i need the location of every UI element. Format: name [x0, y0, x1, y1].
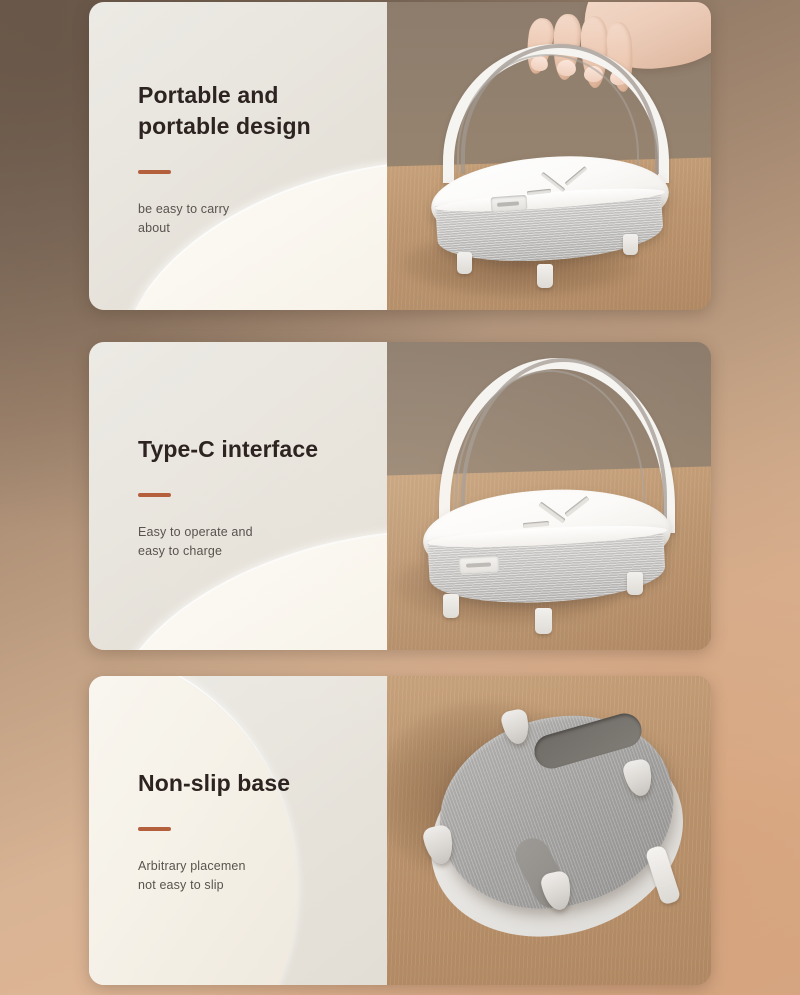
- feature-title: Portable and portable design: [138, 80, 373, 142]
- feature-subtitle: Easy to operate and easy to charge: [138, 523, 373, 561]
- port-opening: [497, 201, 519, 207]
- card-text-panel: Non-slip base Arbitrary placemen not eas…: [89, 676, 387, 985]
- usb-c-port-icon: [491, 195, 528, 212]
- feature-subtitle: Arbitrary placemen not easy to slip: [138, 857, 373, 895]
- foot-2: [537, 264, 553, 288]
- usb-c-port-icon: [459, 555, 500, 574]
- card-photo-panel: [387, 676, 711, 985]
- foot-3: [627, 572, 643, 595]
- foot-3: [623, 234, 638, 255]
- card-text-content: Type-C interface Easy to operate and eas…: [138, 434, 373, 574]
- marketing-page: Portable and portable design be easy to …: [0, 0, 800, 995]
- feature-card-non-slip-base[interactable]: Non-slip base Arbitrary placemen not eas…: [89, 676, 711, 985]
- port-opening: [466, 562, 491, 567]
- foot-2: [535, 608, 552, 634]
- feature-title: Non-slip base: [138, 768, 373, 799]
- card-photo-panel: [387, 2, 711, 310]
- card-text-content: Non-slip base Arbitrary placemen not eas…: [138, 768, 373, 908]
- card-photo-panel: [387, 342, 711, 650]
- feature-subtitle: be easy to carry about: [138, 200, 373, 238]
- accent-divider: [138, 827, 171, 831]
- feature-card-portable-design[interactable]: Portable and portable design be easy to …: [89, 2, 711, 310]
- foot-1: [457, 252, 472, 274]
- feature-card-type-c-interface[interactable]: Type-C interface Easy to operate and eas…: [89, 342, 711, 650]
- feature-title: Type-C interface: [138, 434, 373, 465]
- accent-divider: [138, 170, 171, 174]
- card-text-panel: Type-C interface Easy to operate and eas…: [89, 342, 387, 650]
- card-text-panel: Portable and portable design be easy to …: [89, 2, 387, 310]
- accent-divider: [138, 493, 171, 497]
- card-text-content: Portable and portable design be easy to …: [138, 80, 373, 251]
- foot-1: [443, 594, 459, 618]
